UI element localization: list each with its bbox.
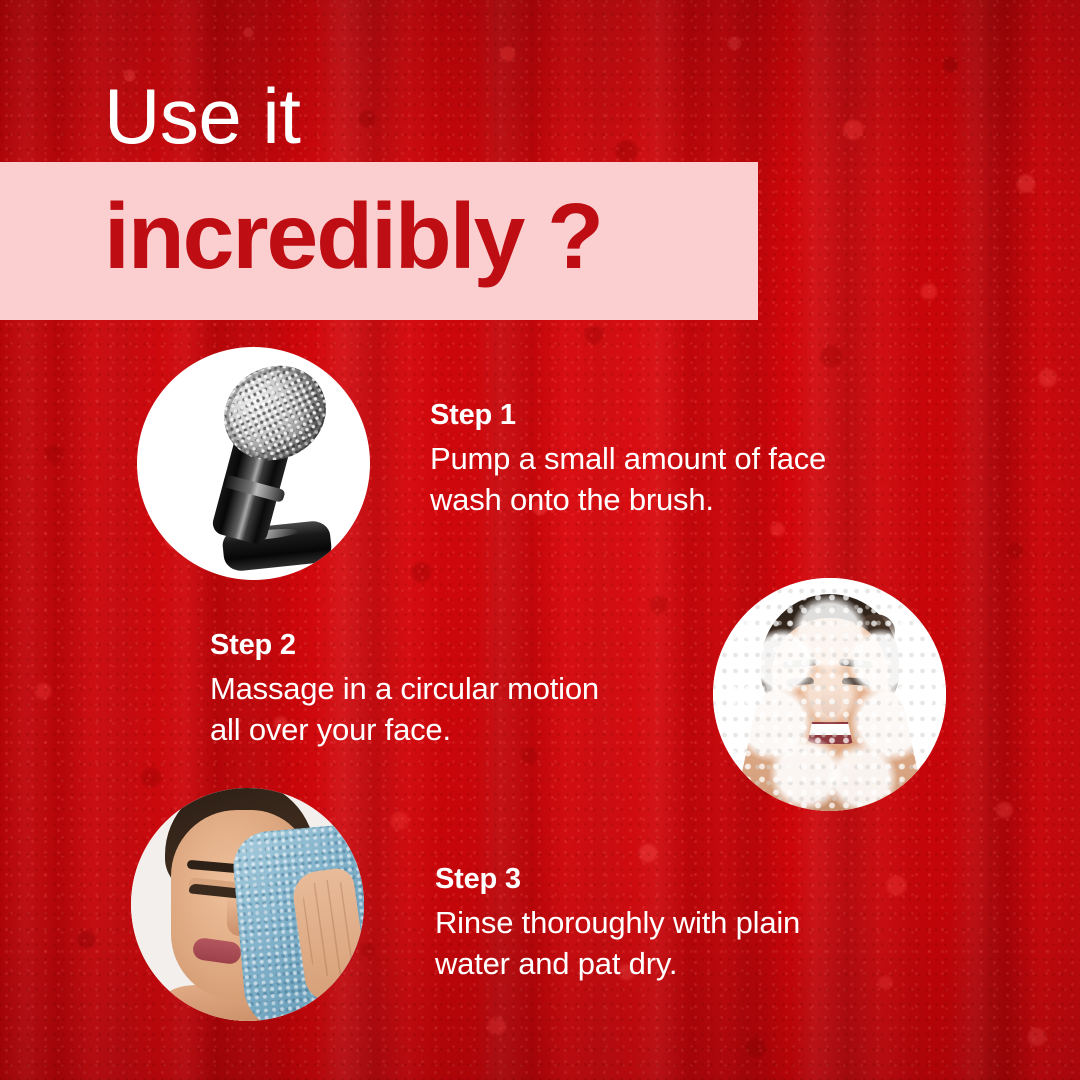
woman-towel-illustration [131,788,364,1021]
foam-bubble-texture [713,578,946,811]
step-1-text-block: Step 1 Pump a small amount of face wash … [430,398,900,520]
step-2-title: Step 2 [210,628,700,662]
step-1-title: Step 1 [430,398,900,432]
step-2-body: Massage in a circular motion all over yo… [210,668,700,750]
step-3-title: Step 3 [435,862,905,896]
woman-washing-illustration [713,578,946,811]
step-3-body: Rinse thoroughly with plain water and pa… [435,902,905,984]
headline-line-1: Use it [104,72,300,160]
headline-line-2: incredibly ? [104,176,602,296]
step-3-image-woman-with-towel [131,788,364,1021]
step-1-body: Pump a small amount of face wash onto th… [430,438,900,520]
brush-head [208,349,342,477]
brush-device-illustration [137,347,370,580]
step-1-image-brush-device [137,347,370,580]
promo-card: Use it incredibly ? Step 1 Pump a small … [0,0,1080,1080]
step-2-text-block: Step 2 Massage in a circular motion all … [210,628,700,750]
step-3-text-block: Step 3 Rinse thoroughly with plain water… [435,862,905,984]
step-2-image-woman-washing-face [713,578,946,811]
